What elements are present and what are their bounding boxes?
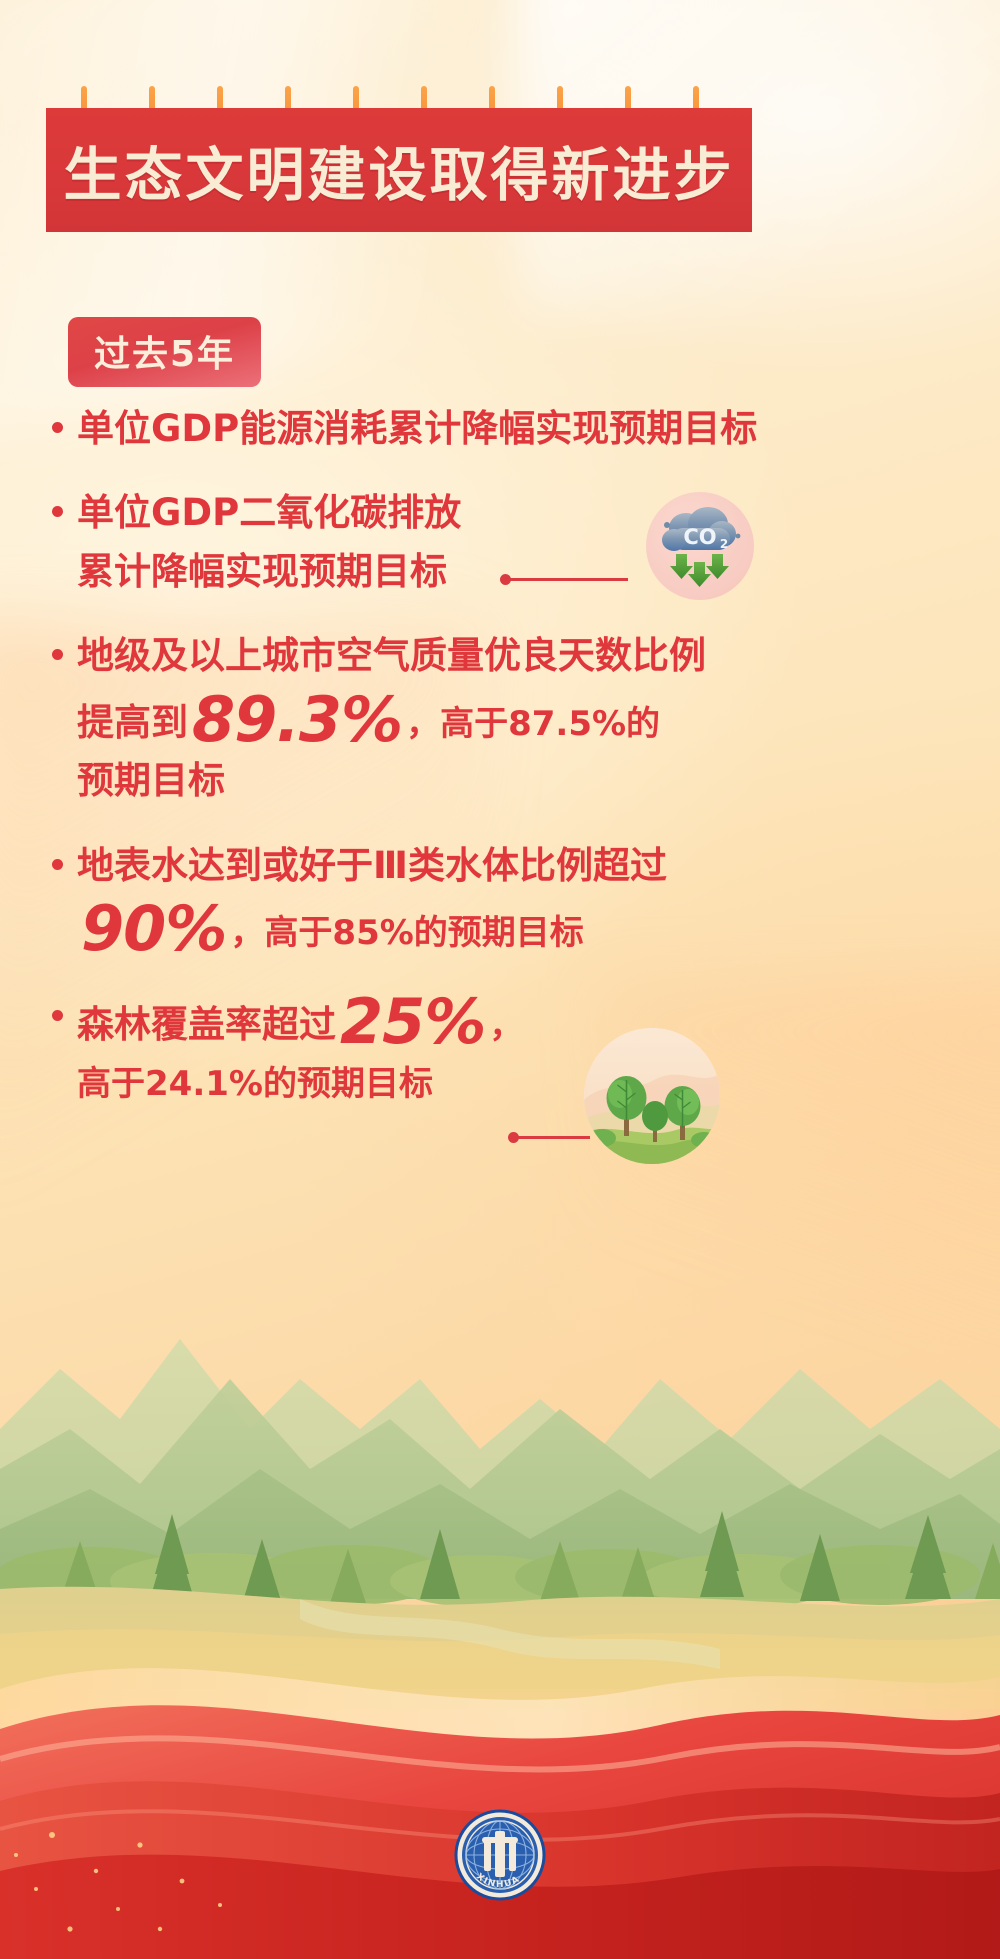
bullet-text-segment: 森林覆盖率超过 [77, 1003, 336, 1046]
bullet-text-segment: ，高于85%的预期目标 [230, 913, 583, 953]
page-title: 生态文明建设取得新进步 [46, 108, 752, 232]
bullet-text-segment: 地表水达到或好于Ⅲ类水体比例超过 [77, 844, 667, 887]
bullet-line: 单位GDP能源消耗累计降幅实现预期目标 [77, 400, 757, 458]
bullet-text-segment: 单位GDP二氧化碳排放 [77, 491, 461, 534]
bullet-text-segment: 单位GDP能源消耗累计降幅实现预期目标 [77, 407, 757, 450]
bullet-forest-coverage: 森林覆盖率超过25%，高于24.1%的预期目标 [44, 988, 960, 1113]
svg-text:CO: CO [683, 525, 716, 549]
bullet-energy-consumption-text: 单位GDP能源消耗累计降幅实现预期目标 [77, 400, 757, 458]
bullet-dot-icon [52, 506, 63, 517]
stat-value: 90% [77, 892, 230, 965]
bullet-text-segment: 地级及以上城市空气质量优良天数比例 [77, 634, 706, 677]
bullet-text-segment: 高于24.1%的预期目标 [77, 1064, 433, 1104]
stat-value: 25% [336, 985, 489, 1058]
bullet-text-segment: ，高于87.5%的 [406, 704, 660, 744]
connector-line-co2 [508, 578, 628, 581]
bullet-dot-icon [52, 422, 63, 433]
co2-icon-art: CO 2 [646, 492, 754, 600]
statistics-list: 单位GDP能源消耗累计降幅实现预期目标单位GDP二氧化碳排放累计降幅实现预期目标… [44, 400, 960, 1139]
bullet-line: 地表水达到或好于Ⅲ类水体比例超过 [77, 837, 667, 895]
bullet-dot-icon [52, 649, 63, 660]
bullet-line: 预期目标 [77, 752, 706, 810]
bullet-dot-icon [52, 859, 63, 870]
connector-line-forest [516, 1136, 590, 1139]
period-badge: 过去5年 [68, 317, 261, 387]
svg-text:2: 2 [720, 537, 728, 551]
bullet-air-quality-text: 地级及以上城市空气质量优良天数比例提高到89.3%，高于87.5%的预期目标 [77, 627, 706, 810]
bullet-dot-icon [52, 1010, 63, 1021]
bullet-line: 90%，高于85%的预期目标 [77, 895, 667, 961]
bullet-line: 高于24.1%的预期目标 [77, 1054, 523, 1112]
bullet-energy-consumption: 单位GDP能源消耗累计降幅实现预期目标 [44, 400, 960, 458]
bullet-line: 单位GDP二氧化碳排放 [77, 484, 461, 542]
bullet-line: 累计降幅实现预期目标 [77, 543, 461, 601]
bullet-surface-water: 地表水达到或好于Ⅲ类水体比例超过90%，高于85%的预期目标 [44, 837, 960, 962]
poster-root: 生态文明建设取得新进步 过去5年 单位GDP能源消耗累计降幅实现预期目标单位GD… [0, 0, 1000, 1959]
co2-cloud-icon: CO 2 [646, 492, 754, 600]
xinhua-logo: XINHUA [454, 1809, 546, 1901]
bullet-text-segment: ， [489, 1006, 523, 1046]
bullet-text-segment: 提高到 [77, 701, 188, 744]
bullet-line: 提高到89.3%，高于87.5%的 [77, 686, 706, 752]
bullet-air-quality: 地级及以上城市空气质量优良天数比例提高到89.3%，高于87.5%的预期目标 [44, 627, 960, 810]
xinhua-logo-art: XINHUA [454, 1809, 546, 1901]
bullet-line: 地级及以上城市空气质量优良天数比例 [77, 627, 706, 685]
bullet-surface-water-text: 地表水达到或好于Ⅲ类水体比例超过90%，高于85%的预期目标 [77, 837, 667, 962]
bullet-forest-coverage-text: 森林覆盖率超过25%，高于24.1%的预期目标 [77, 988, 523, 1113]
bullet-text-segment: 累计降幅实现预期目标 [77, 550, 447, 593]
stat-value: 89.3% [188, 683, 406, 756]
title-banner: 生态文明建设取得新进步 [46, 108, 752, 232]
forest-trees-icon [584, 1028, 720, 1164]
forest-icon-art [584, 1028, 720, 1164]
forest-icon-background [584, 1028, 720, 1164]
bullet-co2-emission-text: 单位GDP二氧化碳排放累计降幅实现预期目标 [77, 484, 461, 601]
bullet-line: 森林覆盖率超过25%， [77, 988, 523, 1054]
bullet-text-segment: 预期目标 [77, 759, 225, 802]
